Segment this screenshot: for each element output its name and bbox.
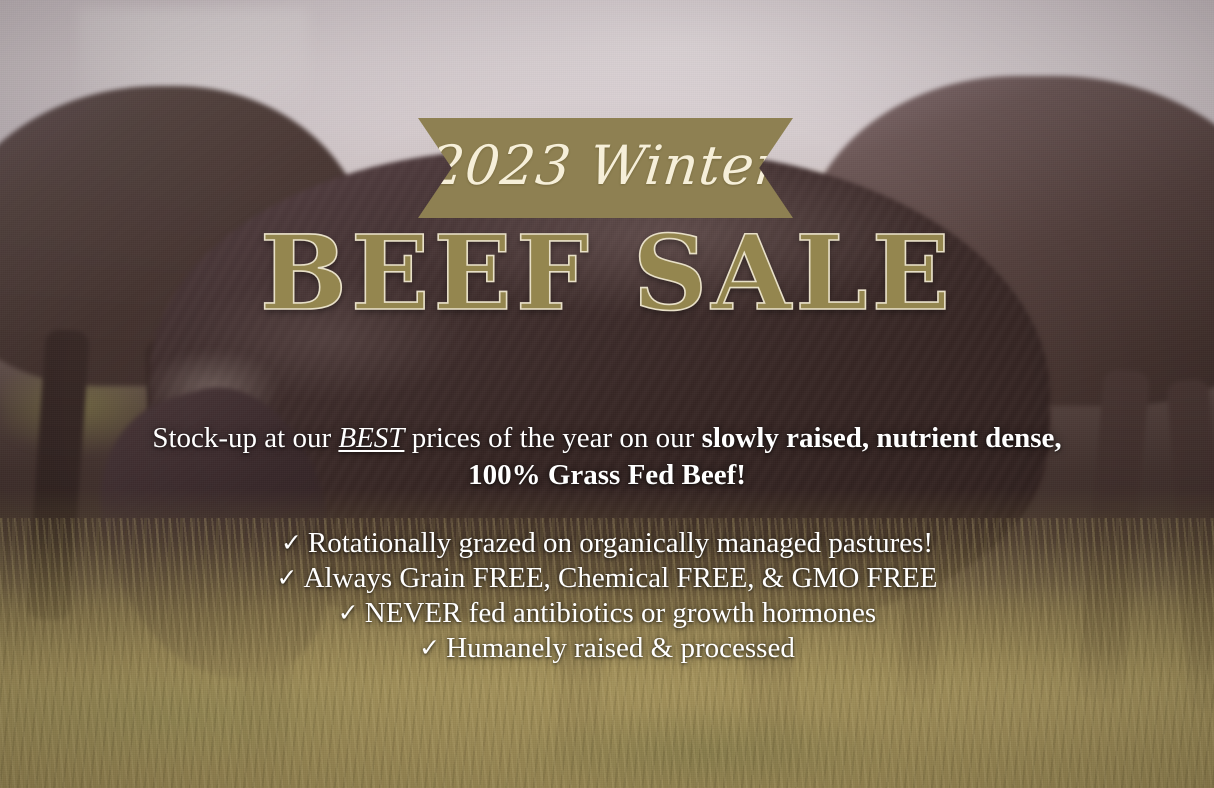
list-item: ✓NEVER fed antibiotics or growth hormone… (0, 596, 1214, 631)
lede-part-1: Stock-up at our (152, 422, 338, 454)
season-ribbon-banner: 2023 Winter (418, 118, 793, 218)
lede-paragraph: Stock-up at our BEST prices of the year … (0, 420, 1214, 494)
list-item-label: Rotationally grazed on organically manag… (308, 527, 933, 559)
check-icon: ✓ (277, 563, 298, 592)
list-item-label: Always Grain FREE, Chemical FREE, & GMO … (304, 562, 938, 594)
promo-copy: Stock-up at our BEST prices of the year … (0, 420, 1214, 666)
lede-emphasis: BEST (338, 422, 404, 454)
list-item: ✓Humanely raised & processed (0, 631, 1214, 666)
check-icon: ✓ (419, 633, 440, 662)
list-item-label: NEVER fed antibiotics or growth hormones (365, 597, 876, 629)
check-icon: ✓ (338, 598, 359, 627)
list-item: ✓Rotationally grazed on organically mana… (0, 526, 1214, 561)
lede-part-2: prices of the year on our (404, 422, 701, 454)
beef-sale-poster: 2023 Winter BEEF SALE Stock-up at our BE… (0, 0, 1214, 788)
list-item-label: Humanely raised & processed (446, 632, 795, 664)
feature-list: ✓Rotationally grazed on organically mana… (0, 526, 1214, 666)
check-icon: ✓ (281, 528, 302, 557)
list-item: ✓Always Grain FREE, Chemical FREE, & GMO… (0, 561, 1214, 596)
season-ribbon-label: 2023 Winter (427, 139, 784, 193)
page-title: BEEF SALE (0, 222, 1214, 325)
